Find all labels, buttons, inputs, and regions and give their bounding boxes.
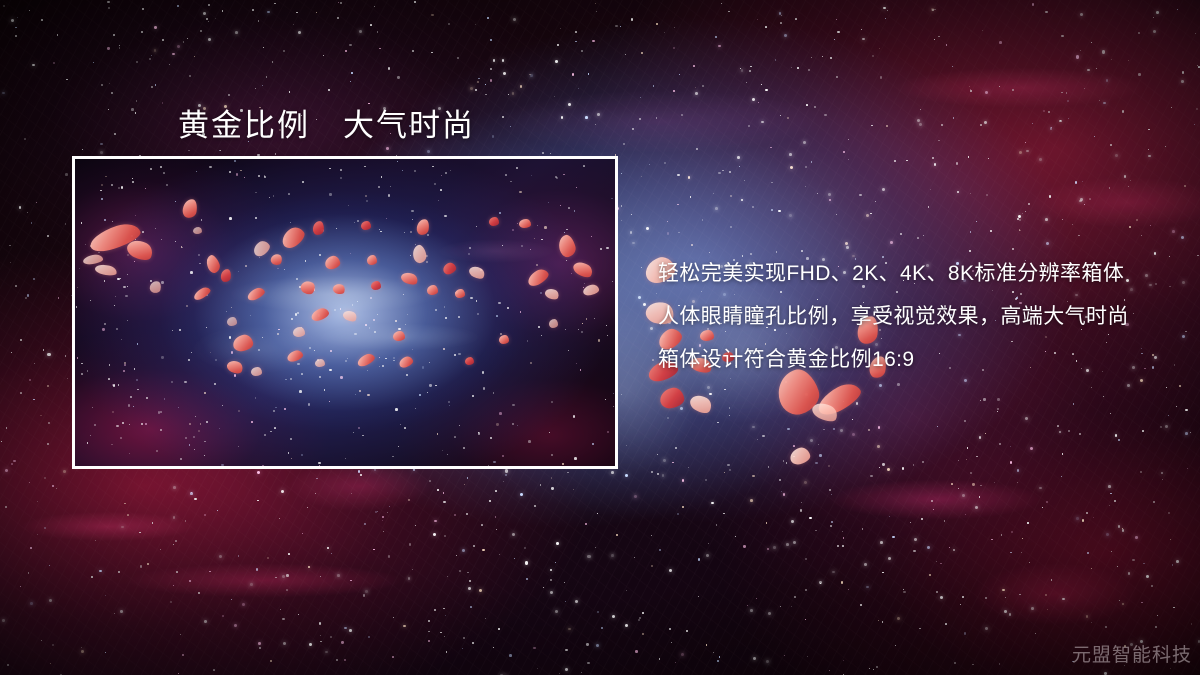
star-dot — [617, 192, 618, 194]
watermark-label: 元盟智能科技 — [1072, 640, 1192, 667]
star-dot — [191, 467, 193, 469]
petal — [393, 331, 405, 341]
petal — [251, 367, 262, 376]
petal — [427, 285, 438, 295]
framed-photo — [72, 156, 618, 469]
star-dot — [473, 466, 474, 467]
petal — [371, 281, 381, 290]
star-dot — [618, 467, 619, 469]
star-dot — [617, 181, 618, 182]
page-title: 黄金比例 大气时尚 — [178, 100, 475, 145]
star-dot — [508, 467, 510, 469]
body-line-2: 人体眼睛瞳孔比例，享受视觉效果，高端大气时尚 — [658, 295, 1178, 338]
slide-canvas: 黄金比例 大气时尚 轻松完美实现FHD、2K、4K、8K标准分辨率箱体 人体眼睛… — [0, 0, 1200, 675]
petal — [293, 327, 305, 337]
star-dot — [577, 468, 578, 469]
star-dot — [179, 466, 180, 467]
petal — [193, 227, 202, 234]
petal — [788, 446, 811, 467]
body-line-3: 箱体设计符合黄金比例16:9 — [658, 338, 1178, 381]
petal — [549, 319, 558, 328]
petal — [227, 317, 237, 326]
petal — [687, 392, 714, 417]
petal — [361, 221, 371, 230]
petal — [465, 357, 474, 365]
photo-image — [75, 159, 615, 466]
petal — [367, 255, 377, 265]
petal — [519, 219, 531, 228]
petal — [455, 289, 465, 298]
petal — [489, 217, 499, 226]
body-line-1: 轻松完美实现FHD、2K、4K、8K标准分辨率箱体 — [658, 252, 1178, 295]
petal — [315, 359, 325, 367]
petal — [499, 335, 509, 344]
body-paragraph: 轻松完美实现FHD、2K、4K、8K标准分辨率箱体 人体眼睛瞳孔比例，享受视觉效… — [658, 252, 1178, 381]
petal — [658, 386, 685, 410]
